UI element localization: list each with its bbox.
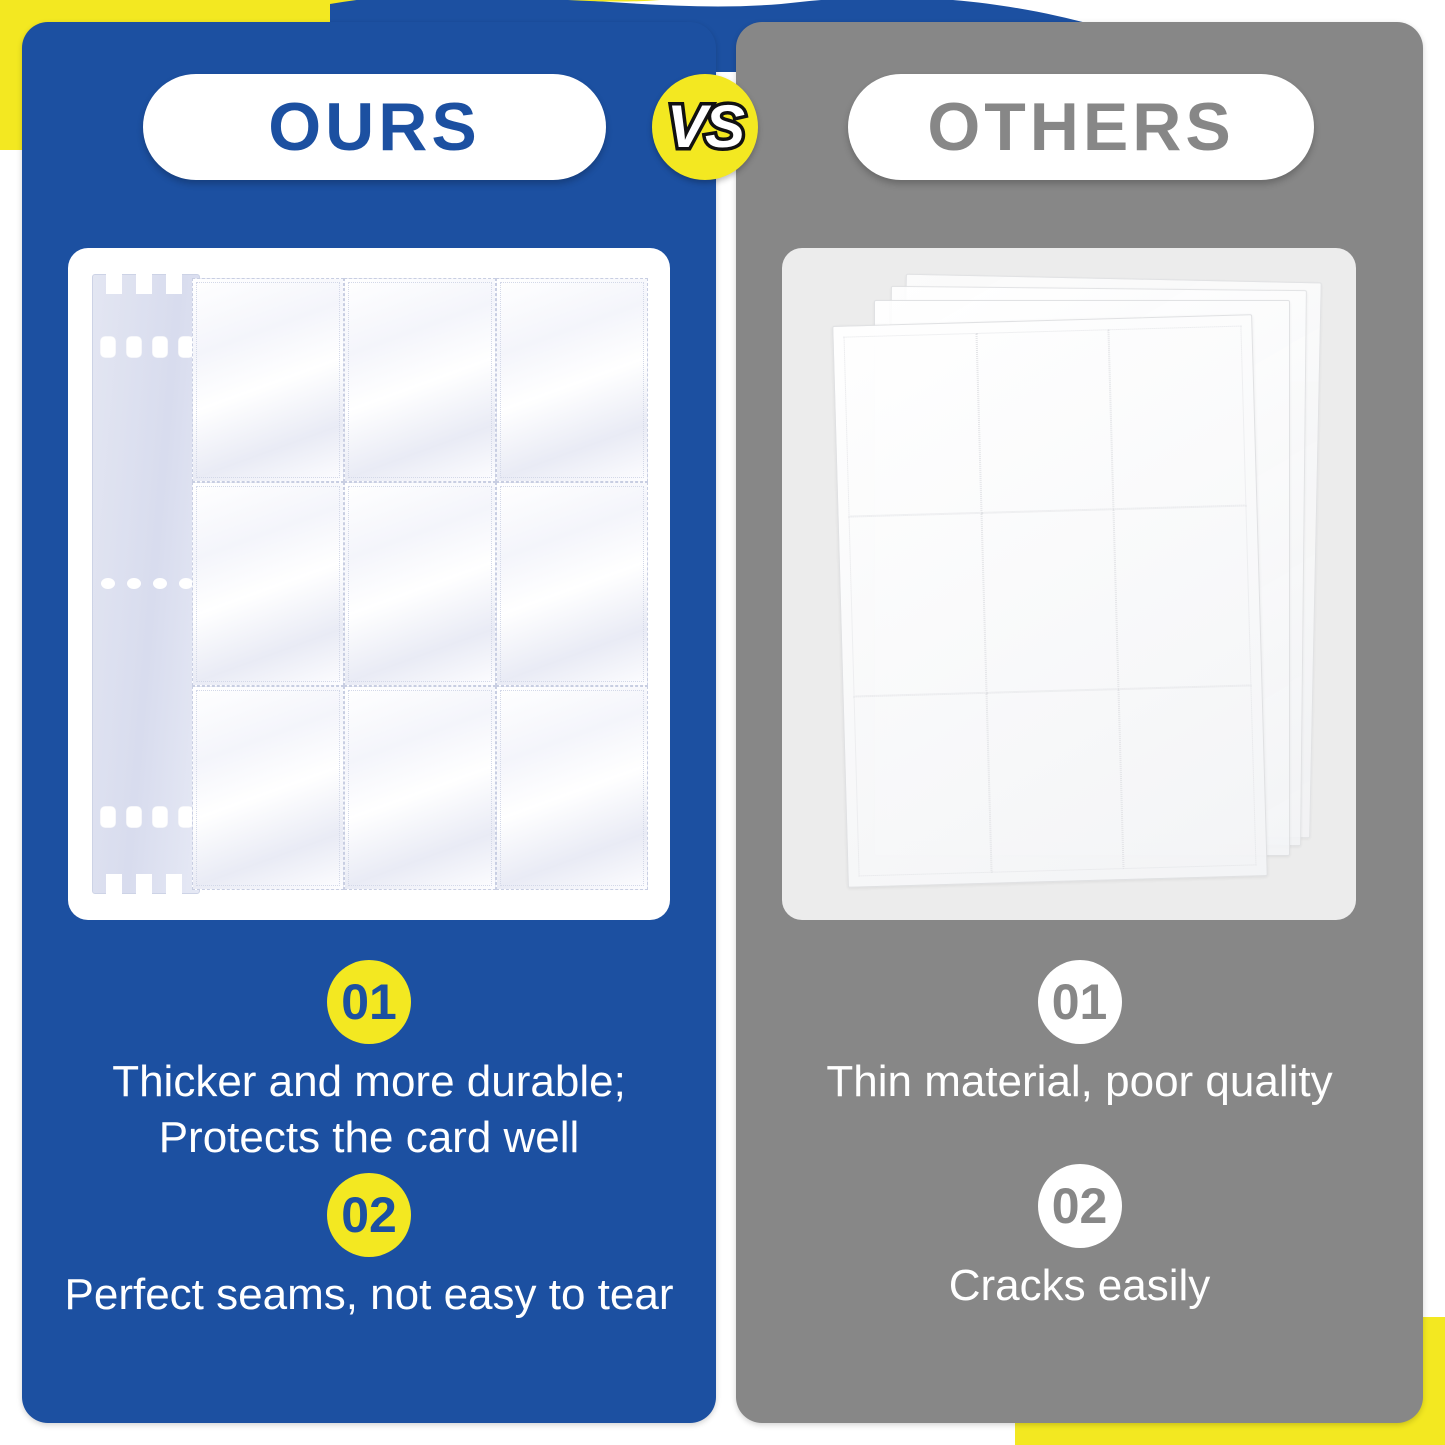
versus-label: VS [667, 97, 743, 157]
card-pocket [496, 482, 648, 686]
others-feature-2-badge: 02 [1038, 1164, 1122, 1248]
binder-hole [101, 578, 115, 589]
ours-feature-2-text: Perfect seams, not easy to tear [48, 1267, 690, 1323]
spine-notch [136, 874, 152, 894]
binder-hole [152, 336, 168, 358]
ours-header-pill: OURS [143, 74, 606, 180]
ours-feature-list: 01 Thicker and more durable; Protects th… [48, 960, 690, 1337]
card-pocket-grid [192, 278, 648, 890]
card-pocket [192, 686, 344, 890]
sleeve-pocket [849, 513, 987, 697]
sleeve-pocket [854, 693, 992, 877]
binder-hole [100, 806, 116, 828]
card-pocket [192, 482, 344, 686]
binder-hole [100, 336, 116, 358]
sleeve-pocket [1109, 326, 1247, 510]
others-header-pill: OTHERS [848, 74, 1314, 180]
comparison-infographic: OURS [0, 0, 1445, 1445]
card-pocket [192, 278, 344, 482]
sleeve-pocket-grid [844, 326, 1257, 877]
others-product-image [782, 248, 1356, 920]
sleeve-pocket [844, 333, 982, 517]
spine-notch [166, 274, 182, 294]
ours-feature-2: 02 Perfect seams, not easy to tear [48, 1173, 690, 1323]
sleeve-pocket [1114, 505, 1252, 689]
others-feature-1-badge: 01 [1038, 960, 1122, 1044]
spine-notch [166, 874, 182, 894]
ours-label: OURS [268, 93, 480, 161]
sleeve-pocket [981, 509, 1119, 693]
others-feature-2-text: Cracks easily [760, 1258, 1399, 1314]
others-feature-list: 01 Thin material, poor quality 02 Cracks… [760, 960, 1399, 1329]
ours-feature-2-badge: 02 [327, 1173, 411, 1257]
card-pocket [496, 278, 648, 482]
card-pocket [344, 686, 496, 890]
binder-hole [153, 578, 167, 589]
binder-hole [179, 578, 193, 589]
others-label: OTHERS [927, 93, 1234, 161]
binder-hole [152, 806, 168, 828]
sleeve-pocket [986, 689, 1124, 873]
others-feature-1: 01 Thin material, poor quality [760, 960, 1399, 1110]
sleeve-pocket [1119, 685, 1257, 869]
sleeve-pocket [976, 329, 1114, 513]
ours-feature-1-text: Thicker and more durable; Protects the c… [48, 1054, 690, 1167]
spine-notch [106, 874, 122, 894]
binder-hole [126, 336, 142, 358]
ours-product-image [68, 248, 670, 920]
versus-badge: VS [652, 74, 758, 180]
spine-notch [106, 274, 122, 294]
spine-notch [136, 274, 152, 294]
binder-hole [127, 578, 141, 589]
ours-feature-1-badge: 01 [327, 960, 411, 1044]
others-feature-2: 02 Cracks easily [760, 1164, 1399, 1314]
sleeve-stack-graphic [822, 278, 1316, 890]
others-feature-1-text: Thin material, poor quality [760, 1054, 1399, 1110]
card-pocket [344, 482, 496, 686]
ours-feature-1: 01 Thicker and more durable; Protects th… [48, 960, 690, 1167]
card-pocket [496, 686, 648, 890]
nine-pocket-page-graphic [92, 274, 648, 894]
card-pocket [344, 278, 496, 482]
binder-hole [126, 806, 142, 828]
sleeve-sheet-top [832, 314, 1268, 888]
